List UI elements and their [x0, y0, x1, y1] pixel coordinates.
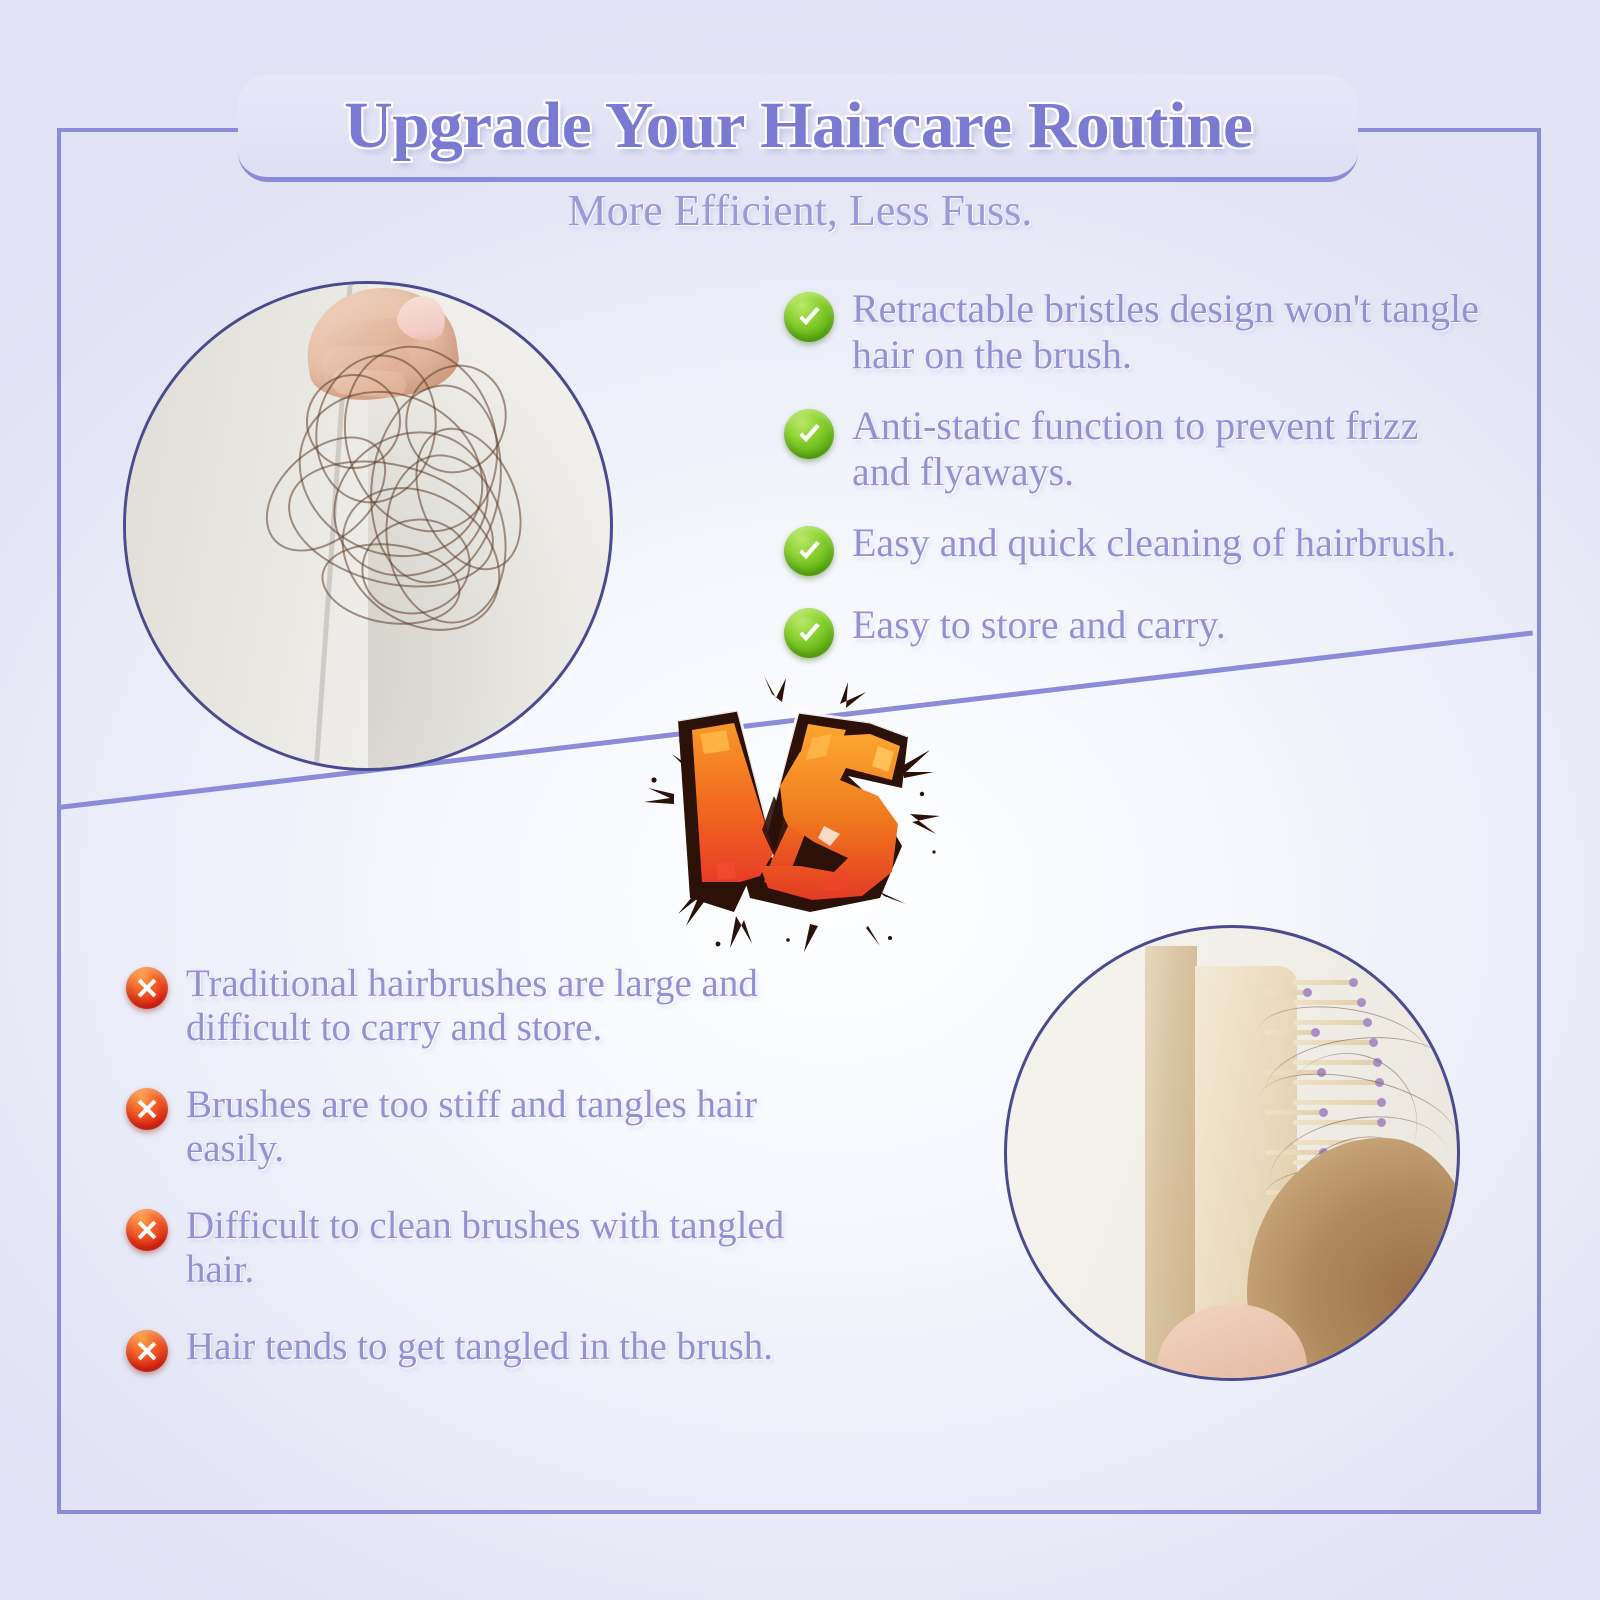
check-circle-icon: [784, 608, 834, 658]
vs-badge: VS: [634, 676, 946, 956]
pros-item-label: Retractable bristles design won't tangle…: [852, 286, 1484, 377]
page-title: Upgrade Your Haircare Routine: [344, 88, 1252, 164]
cross-circle-icon: [126, 1330, 168, 1372]
cross-circle-icon: [126, 967, 168, 1009]
cons-list: Traditional hairbrushes are large and di…: [126, 962, 846, 1404]
pros-item-label: Easy and quick cleaning of hairbrush.: [852, 520, 1456, 566]
photo-wooden-brush-with-tangled-hair: [1004, 925, 1460, 1381]
pros-item-label: Easy to store and carry.: [852, 602, 1226, 648]
cons-item-label: Difficult to clean brushes with tangled …: [186, 1204, 846, 1293]
cons-item-label: Traditional hairbrushes are large and di…: [186, 962, 846, 1051]
check-circle-icon: [784, 292, 834, 342]
infographic-canvas: Upgrade Your Haircare Routine More Effic…: [0, 0, 1600, 1600]
pros-list: Retractable bristles design won't tangle…: [784, 286, 1484, 684]
page-subtitle: More Efficient, Less Fuss.: [0, 185, 1600, 236]
cross-circle-icon: [126, 1209, 168, 1251]
cross-circle-icon: [126, 1088, 168, 1130]
tangled-hair-clump: [276, 344, 566, 644]
cons-item-label: Hair tends to get tangled in the brush.: [186, 1325, 773, 1369]
cons-item: Traditional hairbrushes are large and di…: [126, 962, 846, 1051]
cons-item: Difficult to clean brushes with tangled …: [126, 1204, 846, 1293]
title-badge: Upgrade Your Haircare Routine: [238, 75, 1358, 182]
pros-item-label: Anti-static function to prevent frizz an…: [852, 403, 1484, 494]
cons-item: Brushes are too stiff and tangles hair e…: [126, 1083, 846, 1172]
pros-item: Retractable bristles design won't tangle…: [784, 286, 1484, 377]
pros-item: Anti-static function to prevent frizz an…: [784, 403, 1484, 494]
check-circle-icon: [784, 526, 834, 576]
check-circle-icon: [784, 409, 834, 459]
cons-item: Hair tends to get tangled in the brush.: [126, 1325, 846, 1372]
cons-item-label: Brushes are too stiff and tangles hair e…: [186, 1083, 846, 1172]
pros-item: Easy to store and carry.: [784, 602, 1484, 658]
photo-hand-holding-tangled-hair: [123, 281, 613, 771]
pros-item: Easy and quick cleaning of hairbrush.: [784, 520, 1484, 576]
